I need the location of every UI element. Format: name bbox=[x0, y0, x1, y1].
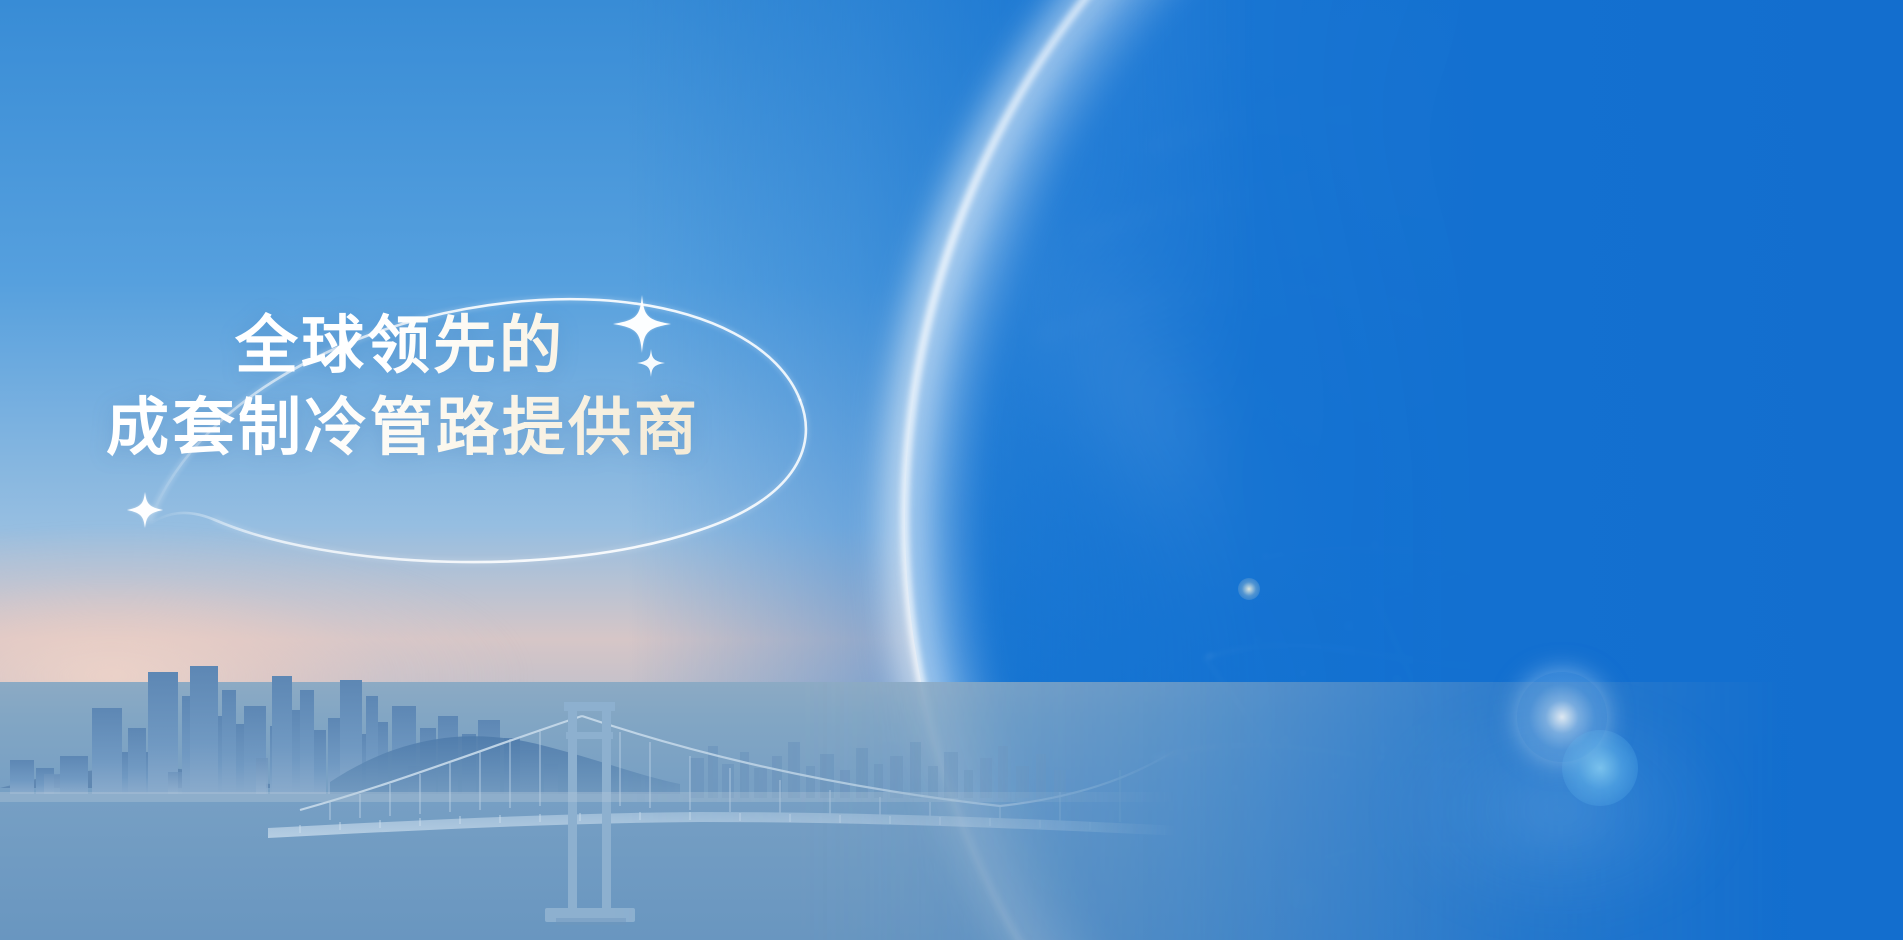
headline-line-2: 成套制冷管路提供商 bbox=[106, 392, 700, 464]
hero-headline: 全球领先的 成套制冷管路提供商 bbox=[106, 310, 700, 464]
headline-line-1: 全球领先的 bbox=[235, 310, 700, 382]
bridge-tower bbox=[545, 702, 635, 922]
hero-banner: 全球领先的 成套制冷管路提供商 bbox=[0, 0, 1903, 940]
foreground-cityscape bbox=[0, 520, 1180, 940]
